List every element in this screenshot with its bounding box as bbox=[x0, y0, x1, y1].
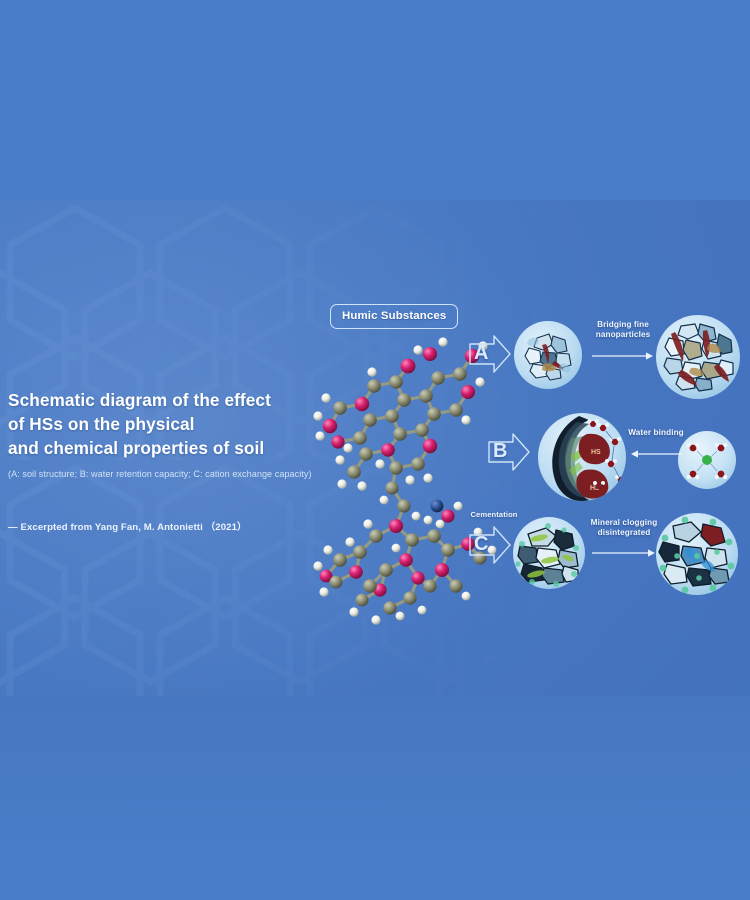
flow-label-c-line2: disintegrated bbox=[598, 528, 651, 537]
page-title-line1: Schematic diagram of the effect bbox=[8, 388, 338, 412]
flow-arrow-a bbox=[592, 350, 654, 362]
pre-label-c-text: Cementation bbox=[470, 510, 517, 519]
flow-label-b-line1: Water binding bbox=[628, 428, 684, 437]
panel-b-right-circle bbox=[677, 430, 737, 490]
svg-text:HS: HS bbox=[591, 449, 601, 456]
panel-b-left-circle: HS HS bbox=[537, 412, 627, 502]
page-title-line3: and chemical properties of soil bbox=[8, 436, 338, 460]
figure-text-block: Schematic diagram of the effect of HSs o… bbox=[8, 388, 338, 533]
stage-letter-b: B bbox=[493, 440, 507, 463]
flow-label-a-line1: Bridging fine bbox=[597, 320, 649, 329]
stage-arrow-c[interactable]: C bbox=[468, 525, 512, 565]
page-title: Schematic diagram of the effect of HSs o… bbox=[8, 388, 338, 460]
source-credit: — Excerpted from Yang Fan, M. Antonietti… bbox=[8, 519, 338, 533]
schematic-figure: A bbox=[0, 200, 750, 696]
flow-arrow-b bbox=[630, 448, 682, 460]
panel-c-left-circle bbox=[512, 516, 586, 590]
panel-c-right-circle bbox=[655, 512, 739, 596]
stage-arrow-a[interactable]: A bbox=[468, 334, 512, 374]
flow-label-c-line1: Mineral clogging bbox=[591, 518, 658, 527]
stage-letter-c: C bbox=[474, 533, 488, 556]
stage-letter-a: A bbox=[474, 342, 488, 365]
flow-label-a-line2: nanoparticles bbox=[596, 330, 651, 339]
panel-a-left-circle bbox=[513, 320, 583, 390]
flow-arrow-c bbox=[592, 547, 656, 559]
stage-arrow-b[interactable]: B bbox=[487, 432, 531, 472]
pre-label-c: Cementation bbox=[461, 510, 527, 519]
flow-label-c: Mineral clogging disintegrated bbox=[582, 518, 666, 537]
flow-label-a: Bridging fine nanoparticles bbox=[586, 320, 660, 339]
panel-a-right-circle bbox=[655, 314, 741, 400]
page-title-line2: of HSs on the physical bbox=[8, 412, 338, 436]
flow-label-b: Water binding bbox=[622, 428, 690, 438]
poster-background: A bbox=[0, 0, 750, 900]
humic-substances-label[interactable]: Humic Substances bbox=[330, 304, 458, 329]
page-subtitle: (A: soil structure; B: water retention c… bbox=[8, 467, 338, 481]
